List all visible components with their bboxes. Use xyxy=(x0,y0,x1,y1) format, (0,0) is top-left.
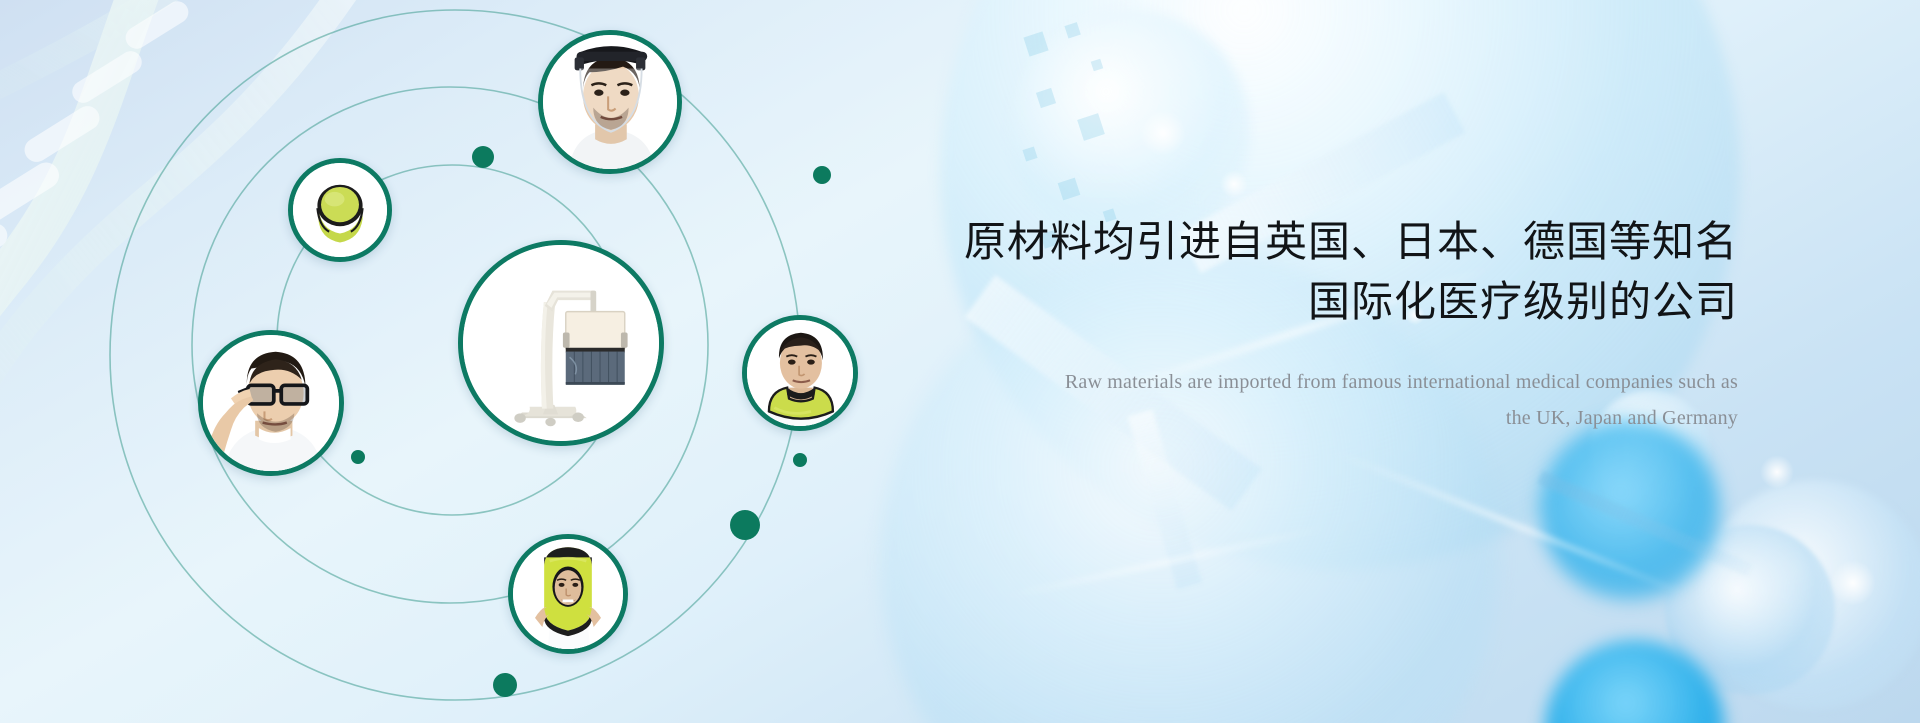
orbit-dot-4 xyxy=(493,673,517,697)
radiation-hood-product-icon xyxy=(513,539,623,649)
headline-line-2: 国际化医疗级别的公司 xyxy=(958,272,1738,332)
light-glint-2 xyxy=(1220,170,1248,198)
bubble-lead-cap-product[interactable] xyxy=(288,158,392,262)
mobile-xray-shield-icon xyxy=(463,245,659,441)
hero-banner: 原材料均引进自英国、日本、德国等知名 国际化医疗级别的公司 Raw materi… xyxy=(0,0,1920,723)
orbit-dot-2 xyxy=(351,450,365,464)
thyroid-collar-product-icon xyxy=(747,320,853,426)
orbit-dot-1 xyxy=(472,146,494,168)
doctor-lead-glasses-icon xyxy=(203,335,339,471)
subtitle-line-1: Raw materials are imported from famous i… xyxy=(1065,371,1738,393)
light-glint-3 xyxy=(1760,455,1794,489)
orbit-dot-5 xyxy=(813,166,831,184)
bubble-radiation-hood-product[interactable] xyxy=(508,534,628,654)
bubble-doctor-face-shield[interactable] xyxy=(538,30,682,174)
banner-copy: 原材料均引进自英国、日本、德国等知名 国际化医疗级别的公司 Raw materi… xyxy=(958,212,1738,436)
subtitle-line-2: the UK, Japan and Germany xyxy=(958,401,1738,437)
bubble-mobile-xray-shield[interactable] xyxy=(458,240,664,446)
subtitle: Raw materials are imported from famous i… xyxy=(958,365,1738,436)
headline: 原材料均引进自英国、日本、德国等知名 国际化医疗级别的公司 xyxy=(958,212,1738,331)
bubble-doctor-lead-glasses[interactable] xyxy=(198,330,344,476)
bubble-thyroid-collar-product[interactable] xyxy=(742,315,858,431)
light-glint-1 xyxy=(1140,110,1186,156)
headline-line-1: 原材料均引进自英国、日本、德国等知名 xyxy=(964,218,1738,265)
light-glint-4 xyxy=(1830,560,1876,606)
orbit-dot-6 xyxy=(793,453,807,467)
orbit-dot-3 xyxy=(730,510,760,540)
lead-cap-product-icon xyxy=(293,163,387,257)
doctor-face-shield-icon xyxy=(543,35,677,169)
